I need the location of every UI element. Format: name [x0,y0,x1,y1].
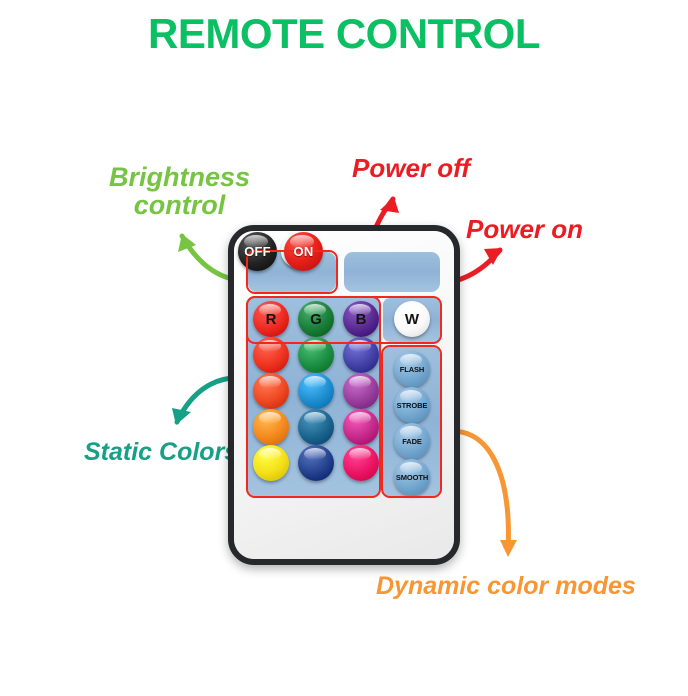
strobe-label: STROBE [397,401,428,410]
color-button[interactable]: R [253,301,289,337]
color-button-label: R [266,311,277,328]
power-off-button[interactable]: OFF [238,232,277,271]
page-title: REMOTE CONTROL [0,10,688,58]
strobe-mode-button[interactable]: STROBE [394,387,430,423]
annotation-power-on: Power on [466,216,583,243]
fade-label: FADE [402,437,422,446]
color-button[interactable] [298,409,334,445]
smooth-label: SMOOTH [396,473,428,482]
remote-faceplate: OFF ON RGB W FLASH STROBE FADE SMOOTH [234,231,454,559]
remote-control-device: OFF ON RGB W FLASH STROBE FADE SMOOTH [228,225,460,565]
color-button[interactable] [298,373,334,409]
color-button[interactable] [253,409,289,445]
color-button[interactable] [253,373,289,409]
annotation-power-off: Power off [352,155,470,182]
color-button[interactable] [343,337,379,373]
annotation-static-colors: Static Colors [84,439,238,465]
power-panel [344,252,440,292]
color-button[interactable] [343,445,379,481]
flash-label: FLASH [400,365,425,374]
power-off-label: OFF [244,244,271,259]
flash-mode-button[interactable]: FLASH [394,351,430,387]
color-button[interactable]: G [298,301,334,337]
color-button[interactable] [298,337,334,373]
annotation-brightness-control: Brightness control [92,163,267,220]
color-button[interactable]: B [343,301,379,337]
color-button[interactable] [253,337,289,373]
power-on-label: ON [294,244,314,259]
color-button[interactable] [343,373,379,409]
color-button-label: G [310,311,322,328]
color-button[interactable] [343,409,379,445]
power-on-button[interactable]: ON [284,232,323,271]
color-button-label: B [356,311,367,328]
white-button-label: W [405,311,419,328]
color-button[interactable] [253,445,289,481]
fade-mode-button[interactable]: FADE [394,423,430,459]
annotation-dynamic-color-modes: Dynamic color modes [376,573,636,599]
smooth-mode-button[interactable]: SMOOTH [394,459,430,495]
white-color-button[interactable]: W [394,301,430,337]
color-button[interactable] [298,445,334,481]
